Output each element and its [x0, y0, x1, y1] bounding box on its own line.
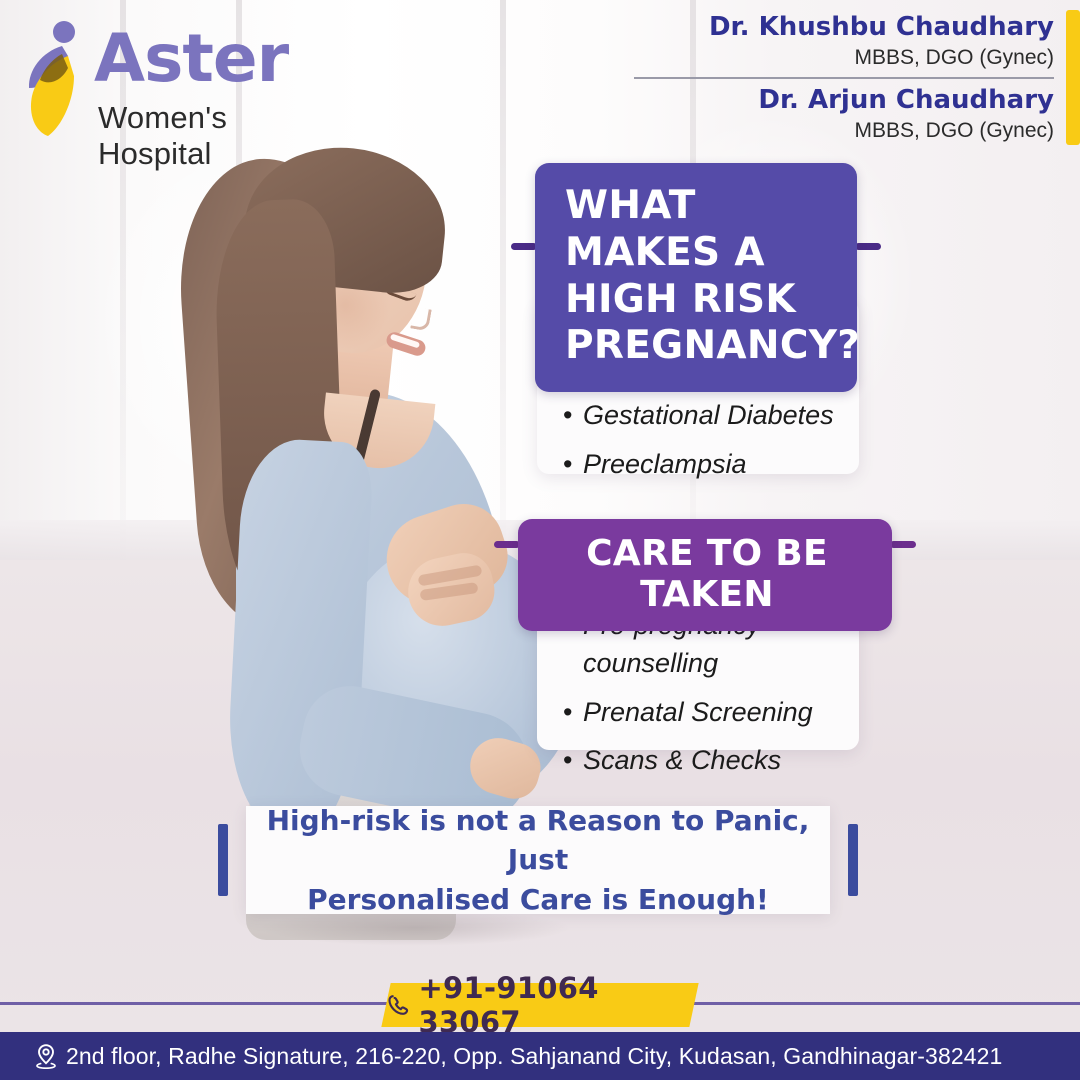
- phone-number: +91-91064 33067: [418, 971, 694, 1039]
- list-item: Preeclampsia: [563, 445, 845, 483]
- tagline-line-2: Personalised Care is Enough!: [307, 883, 769, 916]
- brand-logo[interactable]: Aster Women's Hospital: [18, 12, 348, 140]
- tagline-box: High-risk is not a Reason to Panic, Just…: [246, 806, 830, 914]
- badge-dash-left: [511, 243, 537, 250]
- aster-petal-figure-icon: [18, 18, 92, 138]
- doctor-name-2: Dr. Arjun Chaudhary: [634, 85, 1054, 117]
- section-heading-2: CARE TO BE TAKEN: [518, 519, 892, 631]
- phone-badge[interactable]: +91-91064 33067: [381, 983, 698, 1027]
- doctors-block: Dr. Khushbu Chaudhary MBBS, DGO (Gynec) …: [634, 12, 1054, 144]
- brand-tagline: Women's Hospital: [98, 100, 348, 172]
- address-text: 2nd floor, Radhe Signature, 216-220, Opp…: [66, 1043, 1002, 1070]
- poster-canvas: Aster Women's Hospital Dr. Khushbu Chaud…: [0, 0, 1080, 1080]
- list-item: Gestational Diabetes: [563, 396, 845, 434]
- care-list: Pre-pregnancy counselling Prenatal Scree…: [537, 606, 859, 779]
- tagline-bar-left: [218, 824, 228, 896]
- location-pin-icon: [34, 1043, 58, 1069]
- tagline-bar-right: [848, 824, 858, 896]
- badge-dash-left: [494, 541, 520, 548]
- tagline-text: High-risk is not a Reason to Panic, Just…: [246, 801, 830, 919]
- section-heading-1: WHAT MAKES A HIGH RISK PREGNANCY?: [535, 163, 857, 392]
- doctor-name-1: Dr. Khushbu Chaudhary: [634, 12, 1054, 44]
- list-item: Prenatal Screening: [563, 693, 845, 731]
- list-item: Scans & Checks: [563, 741, 845, 779]
- badge-dash-right: [855, 243, 881, 250]
- tagline-block: High-risk is not a Reason to Panic, Just…: [218, 806, 858, 914]
- phone-handset-icon: [386, 992, 410, 1018]
- badge-dash-right: [890, 541, 916, 548]
- brand-name: Aster: [94, 20, 288, 97]
- phone-badge-content: +91-91064 33067: [386, 971, 694, 1039]
- doctor-qualification-1: MBBS, DGO (Gynec): [634, 44, 1054, 71]
- doctor-qualification-2: MBBS, DGO (Gynec): [634, 117, 1054, 144]
- nose: [410, 307, 432, 332]
- header: Aster Women's Hospital Dr. Khushbu Chaud…: [0, 0, 1080, 150]
- tagline-line-1: High-risk is not a Reason to Panic, Just: [267, 804, 810, 876]
- doctor-divider: [634, 77, 1054, 79]
- header-accent-bar: [1066, 10, 1080, 145]
- address-bar: 2nd floor, Radhe Signature, 216-220, Opp…: [0, 1032, 1080, 1080]
